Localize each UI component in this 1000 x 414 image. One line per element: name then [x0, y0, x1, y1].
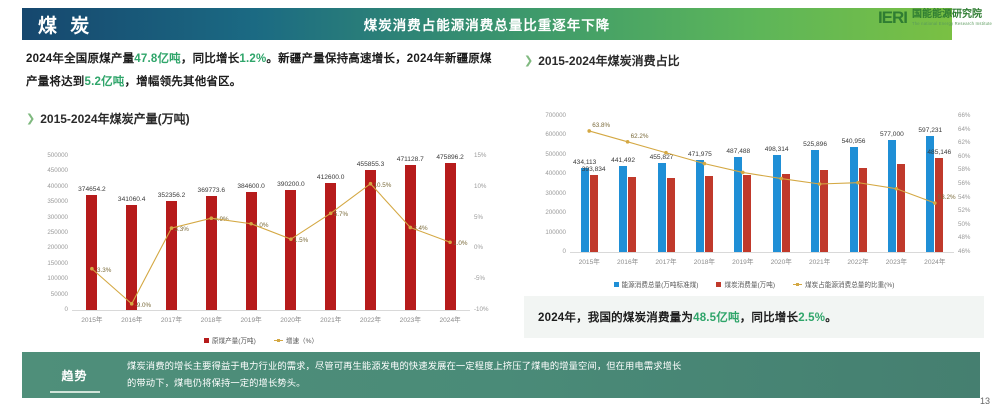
y2-axis-tick: 15% [474, 152, 498, 159]
bar-value-label: 597,231 [904, 127, 956, 134]
legend-label: 原煤产量(万吨) [212, 335, 256, 345]
y2-axis-tick: 66% [958, 112, 982, 119]
bar [285, 190, 296, 310]
line-value-label: -3.3% [95, 267, 111, 274]
bar [445, 163, 456, 310]
intro-text-b: ，同比增长 [181, 53, 240, 65]
x-axis-tick: 2017年 [152, 314, 192, 324]
note-text-c: 。 [825, 312, 837, 324]
legend-item[interactable]: 原煤产量(万吨) [204, 335, 256, 345]
y2-axis-tick: 54% [958, 194, 982, 201]
line-value-label: 62.2% [631, 133, 649, 140]
legend-swatch-icon [204, 338, 209, 343]
x-axis-line [72, 310, 470, 311]
x-axis-tick: 2018年 [685, 256, 723, 266]
line-value-label: -9.0% [135, 302, 151, 309]
y2-axis-tick: 50% [958, 221, 982, 228]
x-axis-tick: 2015年 [72, 314, 112, 324]
x-axis-tick: 2021年 [311, 314, 351, 324]
bar-value-label: 540,956 [828, 138, 880, 145]
bar [166, 201, 177, 310]
chart-legend: 原煤产量(万吨)增速（%） [26, 335, 496, 345]
y-axis-tick: 50000 [30, 291, 68, 298]
chart-coal-production: 0500001000001500002000002500003000003500… [26, 134, 496, 344]
y2-axis-tick: 56% [958, 180, 982, 187]
bar [405, 165, 416, 310]
section-title-production-label: 2015-2024年煤炭产量(万吨) [40, 110, 189, 127]
bar [628, 177, 636, 252]
logo-english-name: The national Energy Research Institute [912, 21, 992, 26]
x-axis-tick: 2018年 [191, 314, 231, 324]
y-axis-tick: 300000 [30, 214, 68, 221]
legend-swatch-icon [793, 284, 802, 285]
line-value-label: 3.4% [413, 225, 427, 232]
bar [590, 175, 598, 252]
section-title-consumption-label: 2015-2024年煤炭消费占比 [538, 52, 679, 69]
bar [86, 195, 97, 310]
trend-text-line2: 的带动下，煤电仍将保持一定的增长势头。 [127, 375, 681, 392]
y2-axis-tick: 52% [958, 207, 982, 214]
legend-swatch-icon [274, 340, 283, 341]
note-text-a: 2024年，我国的煤炭消费量为 [538, 312, 693, 324]
legend-swatch-icon [614, 282, 619, 287]
legend-item[interactable]: 煤炭占能源消费总量的比重(%) [793, 279, 894, 289]
header-title: 煤炭消费占能源消费总量比重逐年下降 [22, 8, 952, 40]
y2-axis-tick: 58% [958, 166, 982, 173]
bar [859, 168, 867, 252]
intro-highlight-output: 47.8亿吨 [134, 53, 181, 65]
legend-item[interactable]: 煤炭消费量(万吨) [716, 279, 775, 289]
trend-banner: 趋势 煤炭消费的增长主要得益于电力行业的需求，尽管可再生能源发电的快速发展在一定… [22, 352, 980, 398]
x-axis-line [570, 252, 954, 253]
x-axis-tick: 2020年 [762, 256, 800, 266]
x-axis-tick: 2023年 [390, 314, 430, 324]
y-axis-tick: 400000 [528, 170, 566, 177]
page-number: 13 [980, 396, 990, 406]
consumption-note: 2024年，我国的煤炭消费量为48.5亿吨，同比增长2.5%。 [524, 296, 984, 338]
y2-axis-tick: 64% [958, 126, 982, 133]
bar-value-label: 485,146 [913, 149, 965, 156]
legend-item[interactable]: 能源消费总量(万吨标准煤) [614, 279, 699, 289]
y2-axis-tick: 0% [474, 244, 498, 251]
y2-axis-tick: 62% [958, 139, 982, 146]
y-axis-tick: 200000 [528, 209, 566, 216]
legend-label: 煤炭消费量(万吨) [724, 279, 775, 289]
bar [667, 178, 675, 252]
line-value-label: 63.8% [592, 122, 610, 129]
line-value-label: 5.7% [334, 211, 348, 218]
y-axis-tick: 700000 [528, 112, 566, 119]
x-axis-tick: 2023年 [877, 256, 915, 266]
y-axis-tick: 350000 [30, 198, 68, 205]
x-axis-tick: 2022年 [839, 256, 877, 266]
legend-label: 煤炭占能源消费总量的比重(%) [805, 279, 894, 289]
bar [811, 150, 819, 252]
y-axis-tick: 0 [30, 306, 68, 313]
logo: IERI 国能能源研究院 The national Energy Researc… [878, 8, 992, 28]
bar-value-label: 412600.0 [305, 174, 357, 181]
x-axis-tick: 2016年 [608, 256, 646, 266]
y-axis-tick: 300000 [528, 190, 566, 197]
x-axis-tick: 2016年 [112, 314, 152, 324]
section-title-production: ❯ 2015-2024年煤炭产量(万吨) [26, 110, 190, 127]
bar [619, 166, 627, 252]
y2-axis-tick: 46% [958, 248, 982, 255]
y2-axis-tick: -5% [474, 275, 498, 282]
bar [935, 158, 943, 252]
bar [206, 196, 217, 310]
trend-text: 煤炭消费的增长主要得益于电力行业的需求，尽管可再生能源发电的快速发展在一定程度上… [127, 358, 699, 392]
y-axis-tick: 500000 [30, 152, 68, 159]
y-axis-tick: 600000 [528, 131, 566, 138]
y-axis-tick: 150000 [30, 260, 68, 267]
trend-text-line1: 煤炭消费的增长主要得益于电力行业的需求，尽管可再生能源发电的快速发展在一定程度上… [127, 358, 681, 375]
legend-label: 增速（%） [286, 335, 318, 345]
x-axis-tick: 2024年 [430, 314, 470, 324]
logo-chinese-name: 国能能源研究院 [912, 10, 992, 21]
note-highlight-amount: 48.5亿吨 [693, 312, 740, 324]
logo-text-block: 国能能源研究院 The national Energy Research Ins… [912, 10, 992, 26]
line-value-label: 3.3% [175, 226, 189, 233]
y-axis-tick: 100000 [30, 275, 68, 282]
bar-value-label: 475896.2 [424, 154, 476, 161]
line-value-label: 1.0% [453, 240, 467, 247]
x-axis-tick: 2022年 [351, 314, 391, 324]
x-axis-tick: 2019年 [724, 256, 762, 266]
slide-header: 煤 炭 煤炭消费占能源消费总量比重逐年下降 [22, 8, 952, 40]
y2-axis-tick: 10% [474, 183, 498, 190]
x-axis-tick: 2024年 [916, 256, 954, 266]
bar [773, 155, 781, 252]
y-axis-tick: 100000 [528, 229, 566, 236]
y-axis-tick: 0 [528, 248, 566, 255]
x-axis-tick: 2020年 [271, 314, 311, 324]
legend-swatch-icon [716, 282, 721, 287]
bar [734, 157, 742, 252]
slide-root: 煤 炭 煤炭消费占能源消费总量比重逐年下降 IERI 国能能源研究院 The n… [0, 0, 1000, 414]
note-highlight-growth: 2.5% [798, 312, 825, 324]
bar [820, 170, 828, 252]
intro-text-a: 2024年全国原煤产量 [26, 53, 134, 65]
bar [365, 170, 376, 310]
bar-value-label: 393,834 [568, 166, 620, 173]
chevron-right-icon: ❯ [26, 112, 35, 125]
y2-axis-tick: 48% [958, 234, 982, 241]
bar [581, 168, 589, 252]
y-axis-tick: 400000 [30, 183, 68, 190]
bar [888, 140, 896, 252]
bar [743, 175, 751, 252]
bar [325, 183, 336, 310]
y-axis-tick: 500000 [528, 151, 566, 158]
x-axis-tick: 2019年 [231, 314, 271, 324]
bar [850, 147, 858, 252]
legend-item[interactable]: 增速（%） [274, 335, 318, 345]
line-value-label: 1.5% [294, 237, 308, 244]
bar [126, 205, 137, 310]
chevron-right-icon: ❯ [524, 54, 533, 67]
intro-paragraph: 2024年全国原煤产量47.8亿吨，同比增长1.2%。新疆产量保持高速增长，20… [26, 48, 496, 94]
bar [705, 176, 713, 252]
bar-value-label: 390200.0 [265, 181, 317, 188]
x-axis-tick: 2021年 [800, 256, 838, 266]
note-text-b: ，同比增长 [740, 312, 799, 324]
line-value-label: 10.5% [374, 182, 392, 189]
line-value-label: 53.2% [938, 194, 956, 201]
bar [696, 160, 704, 252]
legend-label: 能源消费总量(万吨标准煤) [622, 279, 699, 289]
line-value-label: 4.9% [214, 216, 228, 223]
y2-axis-tick: 5% [474, 214, 498, 221]
bar [782, 174, 790, 252]
intro-highlight-xinjiang: 5.2亿吨 [85, 76, 125, 88]
trend-label: 趋势 [22, 367, 127, 384]
bar [246, 192, 257, 310]
x-axis-tick: 2015年 [570, 256, 608, 266]
y-axis-tick: 200000 [30, 244, 68, 251]
x-axis-tick: 2017年 [647, 256, 685, 266]
y-axis-tick: 450000 [30, 167, 68, 174]
y2-axis-tick: -10% [474, 306, 498, 313]
line-value-label: 4.0% [254, 222, 268, 229]
chart-coal-consumption-share: 0100000200000300000400000500000600000700… [524, 76, 984, 288]
bar-value-label: 374654.2 [66, 186, 118, 193]
logo-mark-icon: IERI [878, 8, 907, 28]
y-axis-tick: 250000 [30, 229, 68, 236]
bar [897, 164, 905, 252]
chart-legend: 能源消费总量(万吨标准煤)煤炭消费量(万吨)煤炭占能源消费总量的比重(%) [524, 279, 984, 289]
section-title-consumption: ❯ 2015-2024年煤炭消费占比 [524, 52, 680, 69]
intro-highlight-growth: 1.2% [239, 53, 266, 65]
intro-text-d: ，增幅领先其他省区。 [125, 76, 242, 88]
bar [658, 163, 666, 252]
